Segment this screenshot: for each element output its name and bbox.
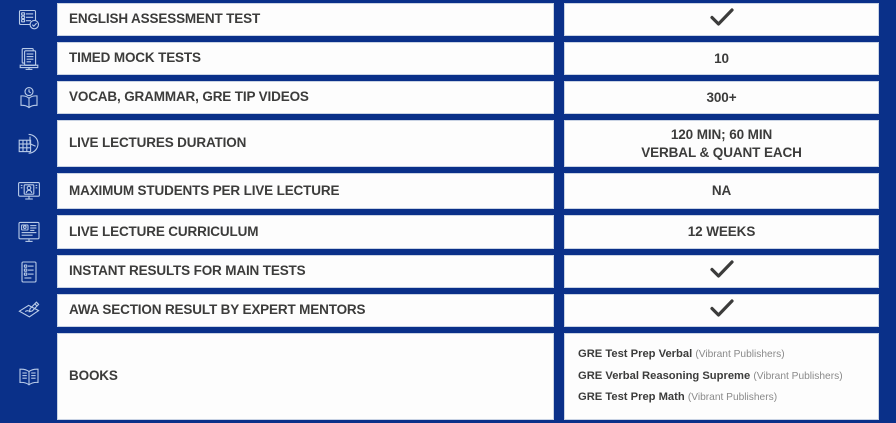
check-icon bbox=[706, 296, 738, 325]
feature-value-cell: 10 bbox=[564, 42, 879, 75]
feature-label: LIVE LECTURES DURATION bbox=[69, 135, 246, 151]
feature-value-cell bbox=[564, 255, 879, 288]
feature-value: 12 WEEKS bbox=[688, 223, 755, 241]
list-item: GRE Test Prep Math (Vibrant Publishers) bbox=[578, 387, 872, 409]
feature-value-cell: NA bbox=[564, 173, 879, 209]
book-publisher: (Vibrant Publishers) bbox=[688, 392, 777, 403]
feature-label: INSTANT RESULTS FOR MAIN TESTS bbox=[69, 263, 306, 279]
feature-label: VOCAB, GRAMMAR, GRE TIP VIDEOS bbox=[69, 89, 309, 105]
row-icon-cell bbox=[0, 173, 57, 209]
table-row: AWA SECTION RESULT BY EXPERT MENTORS bbox=[0, 291, 896, 330]
book-title: GRE Test Prep Verbal bbox=[578, 348, 692, 360]
row-icon-cell bbox=[0, 42, 57, 75]
feature-value-cell: 120 MIN; 60 MIN VERBAL & QUANT EACH bbox=[564, 120, 879, 167]
feature-value: 300+ bbox=[706, 89, 736, 107]
writing-hand-icon bbox=[16, 298, 42, 324]
row-icon-cell bbox=[0, 120, 57, 167]
feature-label: AWA SECTION RESULT BY EXPERT MENTORS bbox=[69, 302, 365, 318]
feature-value-cell bbox=[564, 294, 879, 327]
table-row: VOCAB, GRAMMAR, GRE TIP VIDEOS 300+ bbox=[0, 78, 896, 117]
feature-value-cell bbox=[564, 3, 879, 36]
feature-label-cell: MAXIMUM STUDENTS PER LIVE LECTURE bbox=[57, 173, 554, 209]
feature-label: TIMED MOCK TESTS bbox=[69, 50, 201, 66]
table-row: TIMED MOCK TESTS 10 bbox=[0, 39, 896, 78]
open-book-icon bbox=[16, 364, 42, 390]
book-publisher: (Vibrant Publishers) bbox=[695, 349, 784, 360]
feature-label-cell: LIVE LECTURES DURATION bbox=[57, 120, 554, 167]
table-row: LIVE LECTURE CURRICULUM 12 WEEKS bbox=[0, 212, 896, 252]
feature-label-cell: TIMED MOCK TESTS bbox=[57, 42, 554, 75]
column-gap bbox=[554, 3, 564, 36]
feature-label-cell: BOOKS bbox=[57, 333, 554, 420]
feature-comparison-table: ENGLISH ASSESSMENT TEST bbox=[0, 0, 896, 423]
timed-documents-monitor-icon bbox=[16, 46, 42, 72]
feature-label: MAXIMUM STUDENTS PER LIVE LECTURE bbox=[69, 183, 339, 199]
feature-label: LIVE LECTURE CURRICULUM bbox=[69, 224, 258, 240]
table-row: BOOKS GRE Test Prep Verbal (Vibrant Publ… bbox=[0, 330, 896, 423]
list-item: GRE Verbal Reasoning Supreme (Vibrant Pu… bbox=[578, 366, 872, 388]
checklist-clipboard-icon bbox=[16, 7, 42, 33]
feature-label-cell: ENGLISH ASSESSMENT TEST bbox=[57, 3, 554, 36]
row-icon-cell bbox=[0, 3, 57, 36]
column-gap bbox=[554, 81, 564, 114]
feature-value-cell: GRE Test Prep Verbal (Vibrant Publishers… bbox=[564, 333, 879, 420]
column-gap bbox=[554, 42, 564, 75]
feature-label-cell: INSTANT RESULTS FOR MAIN TESTS bbox=[57, 255, 554, 288]
feature-label: ENGLISH ASSESSMENT TEST bbox=[69, 11, 260, 27]
column-gap bbox=[554, 333, 564, 420]
table-row: ENGLISH ASSESSMENT TEST bbox=[0, 0, 896, 39]
table-row: MAXIMUM STUDENTS PER LIVE LECTURE NA bbox=[0, 170, 896, 212]
monitor-curriculum-icon bbox=[16, 219, 42, 245]
check-icon bbox=[706, 257, 738, 286]
row-icon-cell bbox=[0, 255, 57, 288]
book-title: GRE Verbal Reasoning Supreme bbox=[578, 370, 750, 382]
feature-value-cell: 300+ bbox=[564, 81, 879, 114]
column-gap bbox=[554, 294, 564, 327]
feature-value-cell: 12 WEEKS bbox=[564, 215, 879, 249]
book-publisher: (Vibrant Publishers) bbox=[753, 371, 842, 382]
chart-clock-icon bbox=[16, 131, 42, 157]
row-icon-cell bbox=[0, 81, 57, 114]
row-icon-cell bbox=[0, 333, 57, 420]
column-gap bbox=[554, 255, 564, 288]
results-document-icon bbox=[16, 259, 42, 285]
feature-label-cell: LIVE LECTURE CURRICULUM bbox=[57, 215, 554, 249]
book-title: GRE Test Prep Math bbox=[578, 391, 685, 403]
column-gap bbox=[554, 120, 564, 167]
table-row: LIVE LECTURES DURATION 120 MIN; 60 MIN V… bbox=[0, 117, 896, 170]
value-line-1: 120 MIN; 60 MIN bbox=[671, 127, 772, 142]
books-list: GRE Test Prep Verbal (Vibrant Publishers… bbox=[565, 344, 878, 410]
open-book-clock-icon bbox=[16, 85, 42, 111]
list-item: GRE Test Prep Verbal (Vibrant Publishers… bbox=[578, 344, 872, 366]
column-gap bbox=[554, 215, 564, 249]
value-line-2: VERBAL & QUANT EACH bbox=[641, 145, 802, 160]
monitor-student-icon bbox=[16, 178, 42, 204]
row-icon-cell bbox=[0, 215, 57, 249]
column-gap bbox=[554, 173, 564, 209]
feature-label-cell: AWA SECTION RESULT BY EXPERT MENTORS bbox=[57, 294, 554, 327]
feature-value: 120 MIN; 60 MIN VERBAL & QUANT EACH bbox=[641, 126, 802, 162]
row-icon-cell bbox=[0, 294, 57, 327]
feature-label: BOOKS bbox=[69, 368, 118, 384]
table-row: INSTANT RESULTS FOR MAIN TESTS bbox=[0, 252, 896, 291]
check-icon bbox=[706, 5, 738, 34]
feature-value: 10 bbox=[714, 50, 729, 68]
feature-label-cell: VOCAB, GRAMMAR, GRE TIP VIDEOS bbox=[57, 81, 554, 114]
feature-value: NA bbox=[712, 182, 731, 200]
